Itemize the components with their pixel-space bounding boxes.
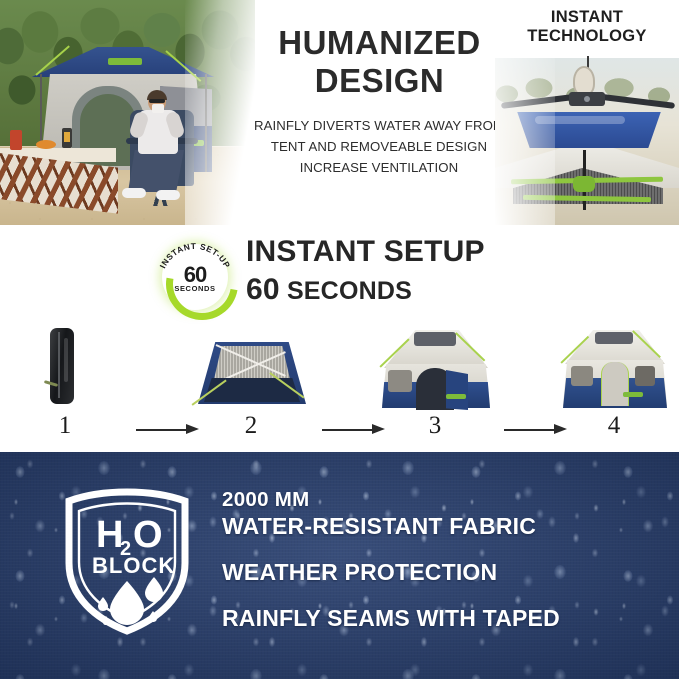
person-shoe-left [122, 188, 146, 198]
instant-technology-label: INSTANT TECHNOLOGY [495, 8, 679, 46]
instant-technology-line2: TECHNOLOGY [527, 27, 646, 45]
person-shoe-right [156, 190, 180, 200]
tent4-window-right [635, 366, 655, 386]
tent4-window-left [571, 366, 593, 386]
product-infographic: HUMANIZED DESIGN RAINFLY DIVERTS WATER A… [0, 0, 679, 679]
coffee-cup [152, 104, 164, 113]
panel-water-resistant: H 2 O BLOCK 2000 MM WATER-RESISTANT FABR… [0, 452, 679, 679]
step-4-number: 4 [549, 412, 679, 440]
setup-step-1: 1 [0, 320, 130, 448]
waterproof-line-2: WATER-RESISTANT FABRIC [222, 512, 662, 540]
step-3-number: 3 [370, 412, 500, 440]
setup-title-unit: SECONDS [287, 277, 412, 305]
lifestyle-photo-camping [0, 0, 255, 225]
tent4-brand-logo [623, 392, 643, 397]
sixty-seconds-badge: INSTANT SET-UP 60 SECONDS [152, 236, 238, 314]
tent4-door [601, 362, 629, 406]
setup-title-number: 60 [246, 273, 280, 306]
humanized-title-line1: HUMANIZED [252, 26, 507, 59]
setup-title-line2: 60 SECONDS [246, 272, 412, 309]
hub-button-icon [584, 96, 590, 102]
person-legs [128, 150, 184, 192]
humanized-subtitle: RAINFLY DIVERTS WATER AWAY FROM TENT AND… [250, 115, 508, 178]
tent3-door-flap [446, 370, 468, 410]
tent3-window [388, 370, 412, 392]
step-4-image [549, 320, 679, 412]
arrow-line [136, 429, 192, 431]
step-2-number: 2 [186, 412, 316, 440]
waterproof-line-4: RAINFLY SEAMS WITH TAPED [222, 604, 662, 632]
fruit-bowl [36, 140, 56, 149]
tent-brand-logo [108, 58, 142, 65]
carry-bag-highlight [64, 338, 68, 382]
waterproof-text-block: 2000 MM WATER-RESISTANT FABRIC WEATHER P… [222, 487, 662, 632]
step-3-image [370, 320, 500, 412]
waterproof-line-1: 2000 MM [222, 487, 662, 512]
step-2-image [186, 320, 316, 412]
carry-bag [50, 328, 74, 404]
camping-lantern [62, 128, 72, 148]
red-jug [10, 130, 22, 150]
humanized-title-line2: DESIGN [252, 64, 507, 97]
sunglasses-icon [149, 99, 165, 103]
panel-humanized-design: HUMANIZED DESIGN RAINFLY DIVERTS WATER A… [0, 0, 679, 225]
humanized-text-block: HUMANIZED DESIGN RAINFLY DIVERTS WATER A… [252, 0, 507, 225]
tent-frame-base-shadow [204, 378, 300, 402]
instant-technology-line1: INSTANT [551, 8, 623, 26]
step-1-image [0, 320, 130, 412]
svg-text:BLOCK: BLOCK [92, 553, 175, 578]
setup-title-line1: INSTANT SETUP [246, 234, 485, 270]
instant-technology-photo: INSTANT TECHNOLOGY [495, 0, 679, 225]
step-1-number: 1 [0, 412, 130, 440]
setup-step-4: 4 [549, 320, 679, 448]
tent3-brand-logo [446, 394, 466, 399]
photo-fade-gradient [185, 0, 255, 225]
tent3-roof-vent [414, 332, 456, 346]
setup-step-2: 2 [186, 320, 316, 448]
tent4-roof-vent [595, 332, 633, 344]
waterproof-line-3: WEATHER PROTECTION [222, 558, 662, 586]
setup-steps-row: 1 2 [0, 320, 679, 448]
h2o-block-shield-icon: H 2 O BLOCK [62, 485, 192, 635]
setup-step-3: 3 [370, 320, 500, 448]
badge-unit: SECONDS [152, 284, 238, 293]
green-hub-connector [573, 176, 595, 192]
svg-text:O: O [133, 514, 163, 556]
carry-bag-zipper [58, 332, 60, 398]
